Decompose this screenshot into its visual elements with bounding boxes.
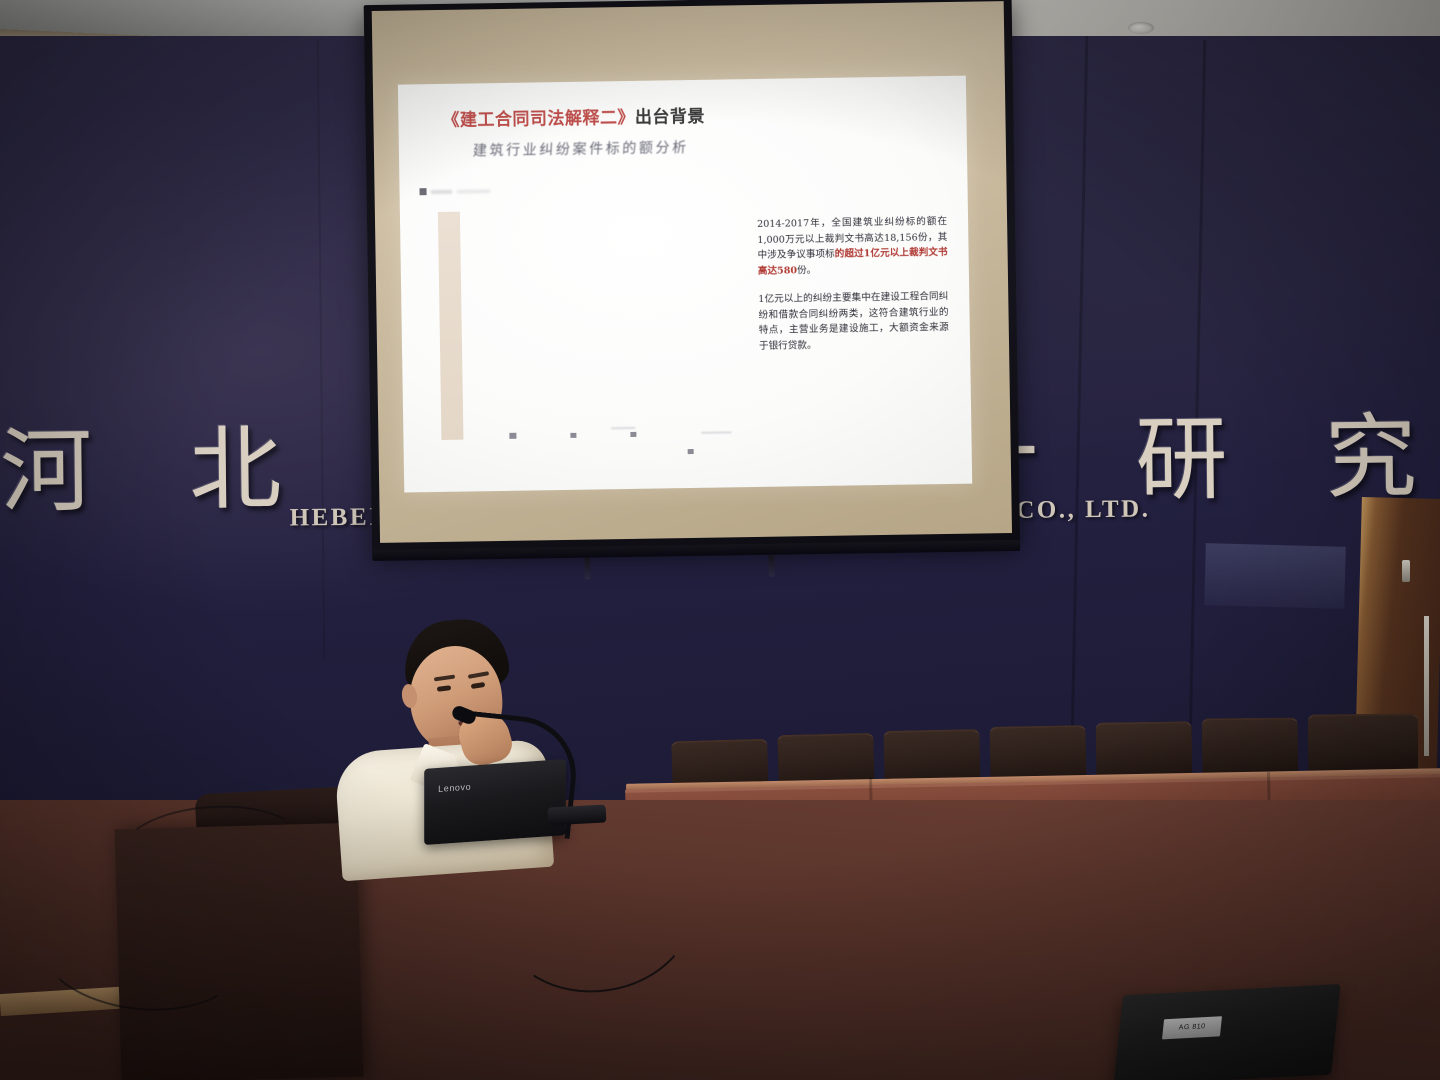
paragraph-lead: 1亿元以上的纠纷主要集中在建设工程合同纠纷和借款合同纠纷两类，这符合建筑行业的特… [758,291,949,352]
auditorium-seat [1308,714,1418,773]
slide-title-dark: 出台背景 [635,107,705,128]
legend-label-blur [431,189,453,193]
auditorium-seat [1202,717,1299,774]
slide-title-red: 《建工合同司法解释二》 [442,108,635,131]
screen-surface: 《建工合同司法解释二》出台背景 建筑行业纠纷案件标的额分析 [398,76,972,493]
axis-tick-rule [611,427,635,429]
chart-bar [630,432,636,437]
chart-bar [438,212,464,440]
axis-tick-rule [701,431,731,433]
slide-paragraph: 2014-2017年，全国建筑业纠纷标的额在1,000万元以上裁判文书高达18,… [757,214,948,279]
stage-monitor-speaker: AG 810 [1113,984,1340,1080]
microphone-base [548,804,607,825]
chart-bar [570,433,576,438]
stage-monitor-label: AG 810 [1162,1016,1222,1039]
downlight-icon [1128,22,1154,34]
door-light-strip [1424,616,1429,756]
conference-hall-photo: 河 北 建 筑 设 计 研 究 院 有 限 责 任 公 司 HEBEI RESE… [0,0,1440,1080]
legend-label-blur [457,189,491,194]
legend-swatch-icon [420,188,427,195]
slide-text-block: 2014-2017年，全国建筑业纠纷标的额在1,000万元以上裁判文书高达18,… [757,214,949,367]
chart-tick-label [697,416,702,422]
slide-content: 《建工合同司法解释二》出台背景 建筑行业纠纷案件标的额分析 [398,76,972,493]
chart-legend [420,187,491,195]
auditorium-seat [1096,721,1193,778]
chart-bar [688,449,694,454]
bar-chart [412,183,736,456]
chart-bar [509,433,516,439]
auditorium-seat [990,725,1087,783]
screen-hook [584,558,590,580]
paragraph-tail: 份。 [797,265,816,276]
slide-subtitle: 建筑行业纠纷案件标的额分析 [472,137,689,160]
slide-title: 《建工合同司法解释二》出台背景 [442,102,705,131]
door-handle[interactable] [1402,560,1410,582]
chart-plot-area [412,199,736,440]
wall-light-patch [1204,543,1346,609]
slide-paragraph: 1亿元以上的纠纷主要集中在建设工程合同纠纷和借款合同纠纷两类，这符合建筑行业的特… [758,289,949,354]
screen-hook [768,555,774,577]
projection-screen: 《建工合同司法解释二》出台背景 建筑行业纠纷案件标的额分析 [364,0,1021,567]
